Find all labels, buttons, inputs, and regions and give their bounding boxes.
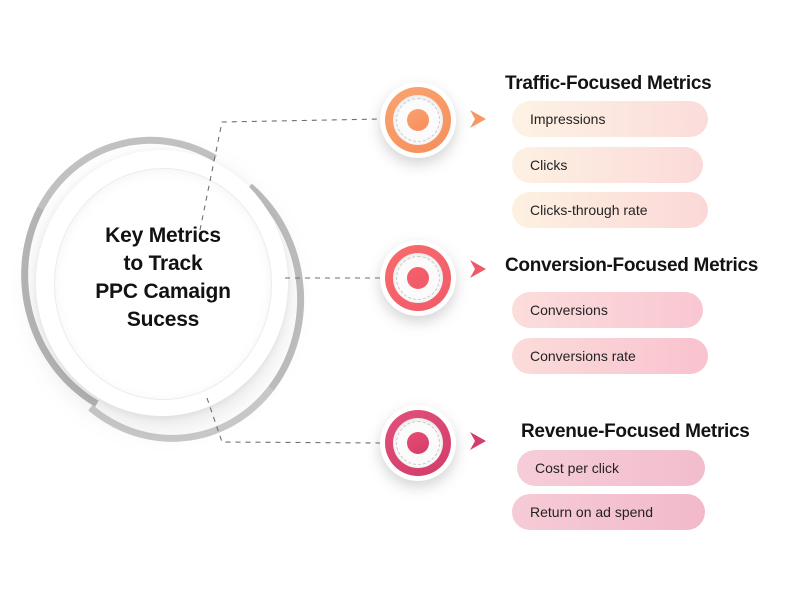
- hub-title: Key Metricsto TrackPPC CamaignSucess: [58, 222, 268, 334]
- pill-label: Conversions: [530, 302, 608, 318]
- pill-label: Clicks-through rate: [530, 202, 648, 218]
- pill-label: Return on ad spend: [530, 504, 653, 520]
- pill-label: Clicks: [530, 157, 567, 173]
- pill-label: Conversions rate: [530, 348, 636, 364]
- branch-traffic-icon[interactable]: [380, 82, 456, 158]
- branch-conversion-pill-0[interactable]: Conversions: [512, 292, 703, 328]
- hub-title-line: Key Metrics: [58, 222, 268, 250]
- branch-revenue-icon[interactable]: [380, 405, 456, 481]
- branch-revenue-pill-0[interactable]: Cost per click: [517, 450, 705, 486]
- branch-traffic-pill-0[interactable]: Impressions: [512, 101, 708, 137]
- hub-title-line: to Track: [58, 250, 268, 278]
- branch-traffic-pill-1[interactable]: Clicks: [512, 147, 703, 183]
- hub-title-line: PPC Camaign: [58, 278, 268, 306]
- pill-label: Cost per click: [535, 460, 619, 476]
- branch-traffic-pill-2[interactable]: Clicks-through rate: [512, 192, 708, 228]
- branch-traffic-chevron-right-icon: [466, 106, 492, 132]
- branch-conversion-pill-1[interactable]: Conversions rate: [512, 338, 708, 374]
- branch-revenue-chevron-right-icon: [466, 428, 492, 454]
- central-hub: Key Metricsto TrackPPC CamaignSucess: [14, 130, 314, 450]
- target-center-dot: [407, 432, 429, 454]
- branch-conversion-icon[interactable]: [380, 240, 456, 316]
- target-center-dot: [407, 109, 429, 131]
- target-center-dot: [407, 267, 429, 289]
- branch-conversion-chevron-right-icon: [466, 256, 492, 282]
- branch-revenue-pill-1[interactable]: Return on ad spend: [512, 494, 705, 530]
- pill-label: Impressions: [530, 111, 605, 127]
- branch-traffic-title: Traffic-Focused Metrics: [505, 73, 711, 95]
- branch-conversion-title: Conversion-Focused Metrics: [505, 255, 758, 277]
- branch-revenue-title: Revenue-Focused Metrics: [521, 421, 750, 443]
- hub-title-line: Sucess: [58, 306, 268, 334]
